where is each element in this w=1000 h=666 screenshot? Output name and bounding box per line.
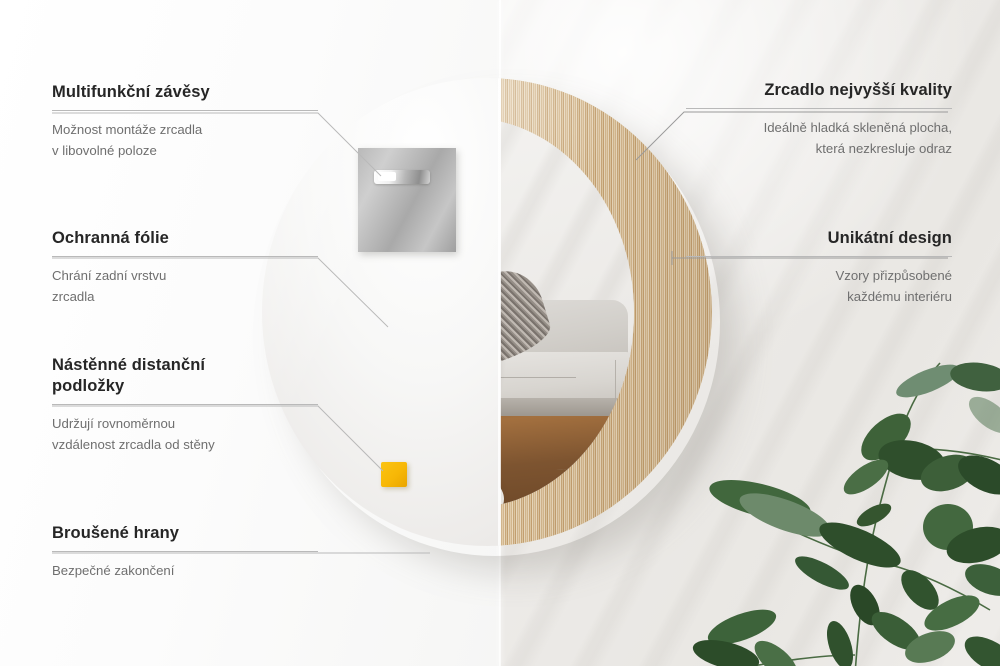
callout-desc-line2: v libovolné poloze (52, 141, 318, 161)
callout-unique-design: Unikátní design Vzory přizpůsobené každé… (686, 228, 952, 307)
callout-rule (52, 256, 318, 257)
callout-desc-line1: Udržují rovnoměrnou (52, 414, 318, 434)
callout-rule (686, 256, 952, 257)
callout-top-quality-mirror: Zrcadlo nejvyšší kvality Ideálně hladká … (686, 80, 952, 159)
callout-desc-line2: která nezkresluje odraz (686, 139, 952, 159)
callout-multifunctional-hangers: Multifunkční závěsy Možnost montáže zrca… (52, 82, 318, 161)
callout-ground-edges: Broušené hrany Bezpečné zakončení (52, 523, 318, 582)
round-mirror (262, 78, 712, 546)
callout-wall-spacers: Nástěnné distanční podložky Udržují rovn… (52, 355, 318, 455)
green-leaves-branch (690, 355, 1000, 666)
callout-title: Multifunkční závěsy (52, 82, 318, 103)
leaves (690, 358, 1000, 666)
callout-title: Zrcadlo nejvyšší kvality (686, 80, 952, 101)
callout-protective-foil: Ochranná fólie Chrání zadní vrstvu zrcad… (52, 228, 318, 307)
callout-rule (686, 108, 952, 109)
mirror-lifestyle-disc (500, 78, 712, 546)
callout-rule (52, 551, 318, 552)
callout-title-line2: podložky (52, 376, 318, 397)
callout-desc-line2: každému interiéru (686, 287, 952, 307)
callout-rule (52, 404, 318, 405)
mirror-half-seam (498, 78, 501, 546)
callout-title: Ochranná fólie (52, 228, 318, 249)
callout-title: Broušené hrany (52, 523, 318, 544)
callout-desc-line2: vzdálenost zrcadla od stěny (52, 435, 318, 455)
callout-rule (52, 110, 318, 111)
mirror-glass-reflection (500, 118, 634, 508)
hanger-keyhole-slot (374, 170, 430, 184)
callout-desc-line1: Možnost montáže zrcadla (52, 120, 318, 140)
callout-desc-line1: Vzory přizpůsobené (686, 266, 952, 286)
callout-title: Unikátní design (686, 228, 952, 249)
infographic-canvas: Multifunkční závěsy Možnost montáže zrca… (0, 0, 1000, 666)
callout-title-line1: Nástěnné distanční (52, 355, 318, 376)
multifunctional-hanger-plate (358, 148, 456, 252)
callout-desc-line1: Bezpečné zakončení (52, 561, 318, 581)
wall-spacer-pad (381, 462, 407, 487)
callout-desc-line2: zrcadla (52, 287, 318, 307)
callout-desc-line1: Ideálně hladká skleněná plocha, (686, 118, 952, 138)
mirror-lifestyle-half (500, 78, 712, 546)
callout-desc-line1: Chrání zadní vrstvu (52, 266, 318, 286)
mirror-body (262, 78, 712, 546)
